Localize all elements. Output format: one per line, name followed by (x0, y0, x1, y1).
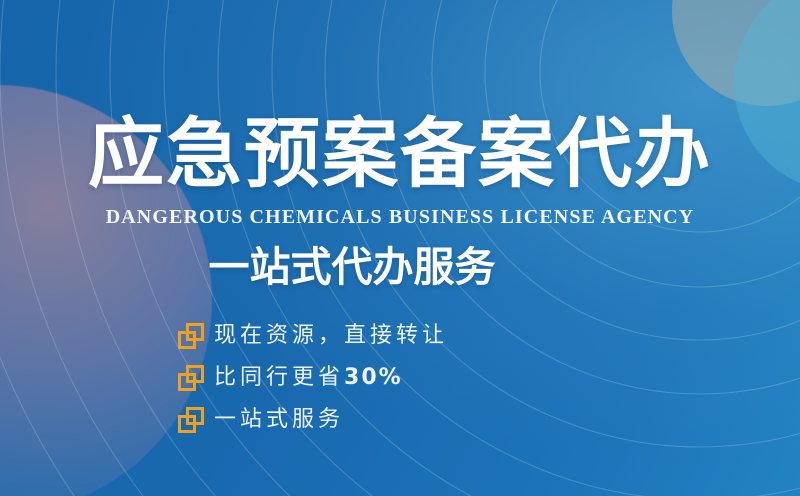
page-title: 应急预案备案代办 (0, 112, 800, 196)
list-item-label: 一站式服务 (214, 407, 344, 433)
service-subtitle: 一站式代办服务 (0, 243, 704, 291)
list-item: 比同行更省30% (178, 358, 448, 397)
english-subtitle: DANGEROUS CHEMICALS BUSINESS LICENSE AGE… (0, 206, 800, 229)
list-item-label: 比同行更省30% (214, 365, 403, 391)
list-item-label: 现在资源，直接转让 (214, 323, 448, 349)
double-square-icon (178, 407, 204, 433)
list-item-label-prefix: 比同行更省 (214, 365, 344, 390)
double-square-icon (178, 323, 204, 349)
double-square-icon (178, 365, 204, 391)
list-item: 现在资源，直接转让 (178, 316, 448, 355)
list-item-label-emphasis: 30% (344, 365, 403, 390)
list-item: 一站式服务 (178, 400, 448, 439)
promo-banner: 应急预案备案代办 DANGEROUS CHEMICALS BUSINESS LI… (0, 0, 800, 496)
feature-list: 现在资源，直接转让 比同行更省30% 一站式服务 (178, 316, 448, 442)
banner-content: 应急预案备案代办 DANGEROUS CHEMICALS BUSINESS LI… (0, 0, 800, 496)
